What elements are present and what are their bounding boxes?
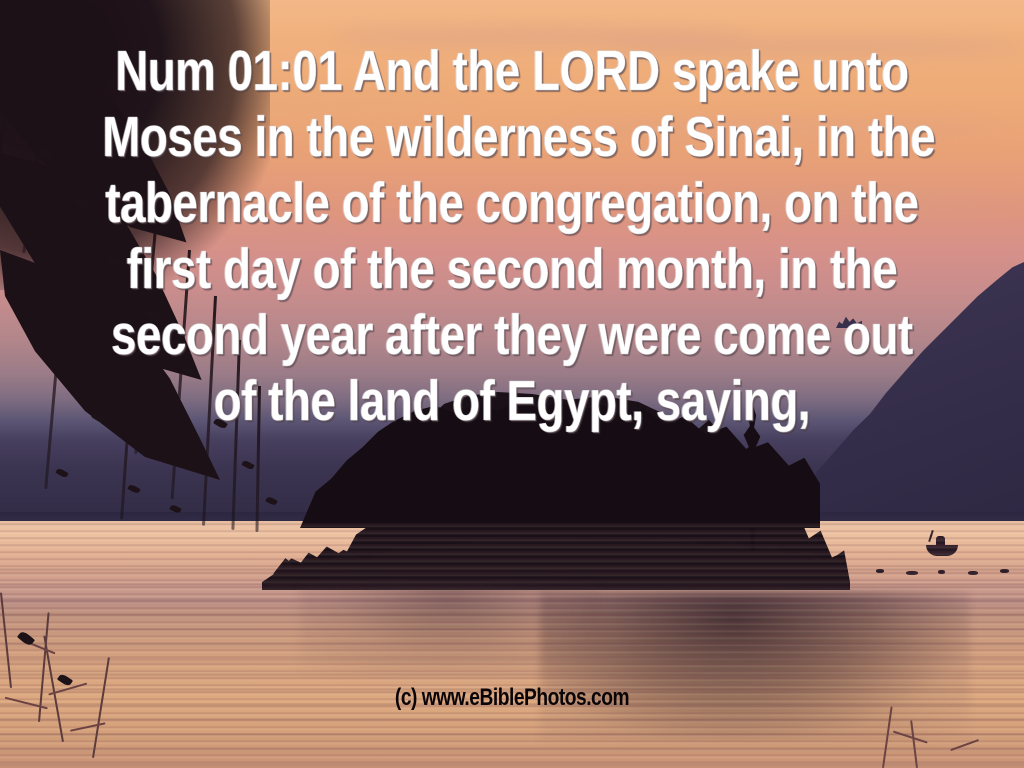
verse-line-2: Moses in the wilderness of Sinai, in the (102, 104, 921, 170)
verse-line-1: Num 01:01 And the LORD spake unto (102, 38, 921, 104)
verse-line-4: first day of the second month, in the (102, 236, 921, 302)
verse-line-5: second year after they were come out (102, 302, 921, 368)
copyright-watermark: (c) www.eBiblePhotos.com (102, 686, 921, 710)
bible-verse-text: Num 01:01 And the LORD spake unto Moses … (102, 38, 921, 434)
verse-line-3: tabernacle of the congregation, on the (102, 170, 921, 236)
water-ripple-texture (0, 560, 1024, 768)
verse-image-canvas: Num 01:01 And the LORD spake unto Moses … (0, 0, 1024, 768)
verse-line-6: of the land of Egypt, saying, (102, 368, 921, 434)
